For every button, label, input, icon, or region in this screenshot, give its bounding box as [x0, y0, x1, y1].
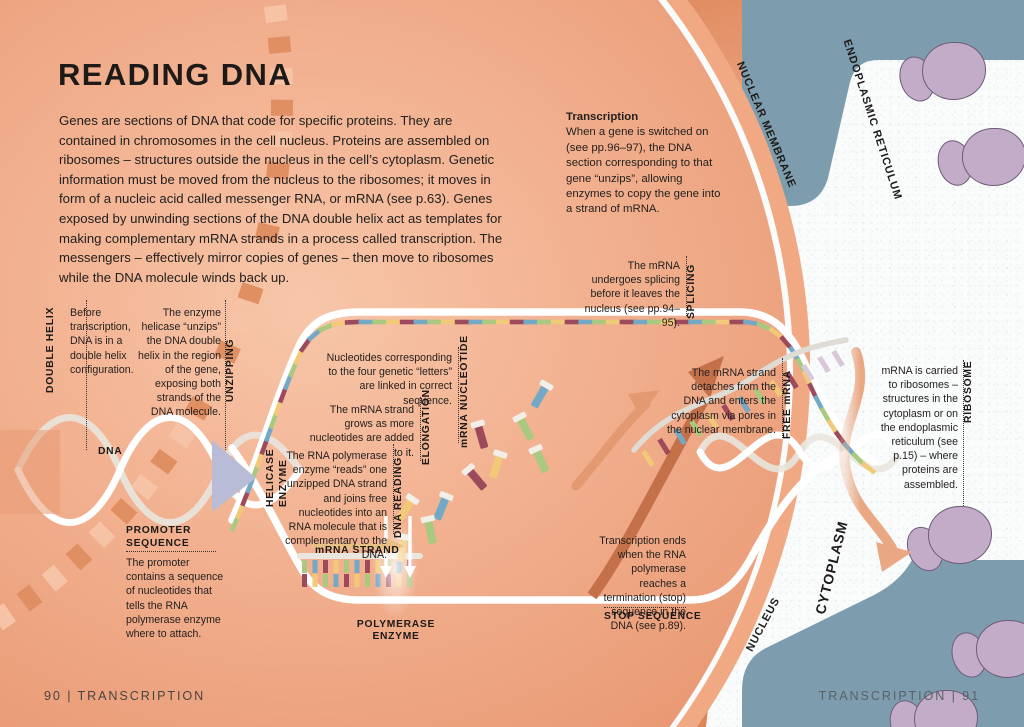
leader-stop-sequence [604, 607, 686, 608]
leader-free-mrna [782, 358, 783, 438]
transcription-callout: Transcription When a gene is switched on… [566, 110, 726, 218]
leader-splicing [686, 256, 687, 316]
label-polymerase-enzyme: POLYMERASE ENZYME [348, 619, 444, 644]
text-ribosome: mRNA is carried to ribosomes – structure… [878, 364, 958, 492]
label-helicase-enzyme: HELICASE [265, 449, 276, 507]
intro-paragraph: Genes are sections of DNA that code for … [59, 111, 506, 287]
dna-double-helix-right [700, 435, 900, 469]
label-elongation: ELONGATION [421, 389, 432, 465]
leader-elongation [420, 397, 421, 461]
text-promoter-sequence: The promoter contains a sequence of nucl… [126, 556, 230, 641]
infographic-page: READING DNA Genes are sections of DNA th… [0, 0, 1024, 727]
label-free-mrna: FREE mRNA [782, 370, 793, 439]
label-helicase-enzyme-line1: HELICASE [265, 449, 276, 507]
label-double-helix: DOUBLE HELIX [45, 307, 56, 393]
page-title: READING DNA [58, 57, 292, 93]
transcription-heading: Transcription [566, 110, 726, 125]
label-dna-reading: DNA READING [393, 457, 404, 538]
text-unzipping: The enzyme helicase “unzips” the DNA dou… [137, 306, 221, 420]
text-splicing: The mRNA undergoes splicing before it le… [576, 259, 680, 330]
label-dna: DNA [98, 446, 122, 457]
footer-right: TRANSCRIPTION | 91 [819, 689, 980, 703]
leader-unzipping [225, 300, 226, 450]
label-mrna-strand: mRNA STRAND [315, 545, 400, 556]
label-splicing: SPLICING [686, 264, 697, 319]
leader-promoter-sequence [126, 551, 216, 552]
transcription-body: When a gene is switched on (see pp.96–97… [566, 126, 721, 215]
text-double-helix: Before transcription, DNA is in a double… [70, 306, 132, 377]
text-mrna-nucleotide: Nucleotides corresponding to the four ge… [324, 351, 452, 408]
label-unzipping: UNZIPPING [225, 339, 236, 402]
leader-mrna-nucleotide [458, 347, 459, 443]
label-ribosome: RIBOSOME [963, 361, 974, 423]
text-free-mrna: The mRNA strand detaches from the DNA an… [666, 366, 776, 437]
footer-left: 90 | TRANSCRIPTION [44, 689, 205, 703]
leader-ribosome [963, 360, 964, 506]
leader-dna-reading [393, 444, 394, 534]
label-promoter-sequence: PROMOTER SEQUENCE [126, 524, 226, 550]
label-stop-sequence: STOP SEQUENCE [604, 611, 701, 622]
label-mrna-nucleotide: mRNA NUCLEOTIDE [459, 335, 470, 448]
